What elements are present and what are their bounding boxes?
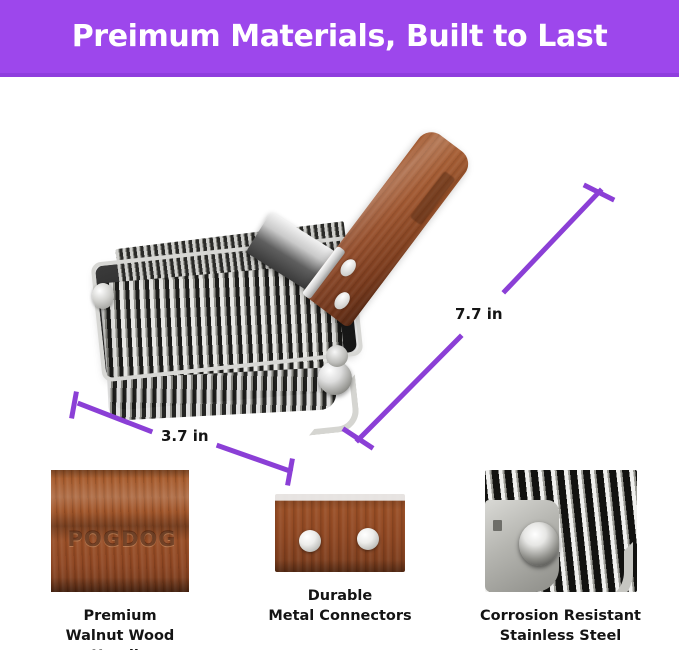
feature-caption-metal-connectors: Durable Metal Connectors <box>260 586 420 626</box>
feature-item-stainless-steel: Corrosion Resistant Stainless Steel <box>478 470 643 646</box>
steel-bolt-head <box>519 522 559 566</box>
product-hero-image <box>0 77 679 462</box>
feature-caption-line-2: Walnut Wood Handle <box>40 626 200 650</box>
steel-stamp-mark <box>493 520 502 531</box>
feature-caption-line-2: Metal Connectors <box>260 606 420 626</box>
feature-caption-stainless-steel: Corrosion Resistant Stainless Steel <box>478 606 643 646</box>
rivet-icon-2 <box>357 528 379 550</box>
feature-item-walnut-wood-handle: POGDOG Premium Walnut Wood Handle <box>40 470 200 650</box>
tool-right-bolt-cap <box>326 345 348 367</box>
feature-thumbnail-stainless-steel <box>485 470 637 592</box>
feature-caption-walnut-wood-handle: Premium Walnut Wood Handle <box>40 606 200 650</box>
feature-item-metal-connectors: Durable Metal Connectors <box>260 470 420 626</box>
infographic-page: Preimum Materials, Built to Last <box>0 0 679 650</box>
feature-thumbnail-metal-connectors <box>275 494 405 572</box>
feature-caption-line-1: Corrosion Resistant <box>478 606 643 626</box>
rivet-icon-1 <box>299 530 321 552</box>
handle-engraving-mark <box>410 171 456 226</box>
feature-list: POGDOG Premium Walnut Wood Handle Durabl… <box>0 470 679 650</box>
page-title: Preimum Materials, Built to Last <box>0 0 679 73</box>
handle-rivet-1 <box>337 256 359 279</box>
dimension-label-height: 7.7 in <box>455 305 503 323</box>
handle-rivet-2 <box>331 289 353 312</box>
feature-caption-line-1: Premium <box>40 606 200 626</box>
dimension-label-width: 3.7 in <box>161 427 209 445</box>
feature-caption-line-2: Stainless Steel <box>478 626 643 646</box>
feature-thumbnail-walnut-wood-handle: POGDOG <box>51 470 189 592</box>
tool-left-hinge <box>92 283 114 309</box>
feature-caption-line-1: Durable <box>260 586 420 606</box>
wood-engraving-text: POGDOG <box>59 526 185 552</box>
header-banner: Preimum Materials, Built to Last <box>0 0 679 77</box>
